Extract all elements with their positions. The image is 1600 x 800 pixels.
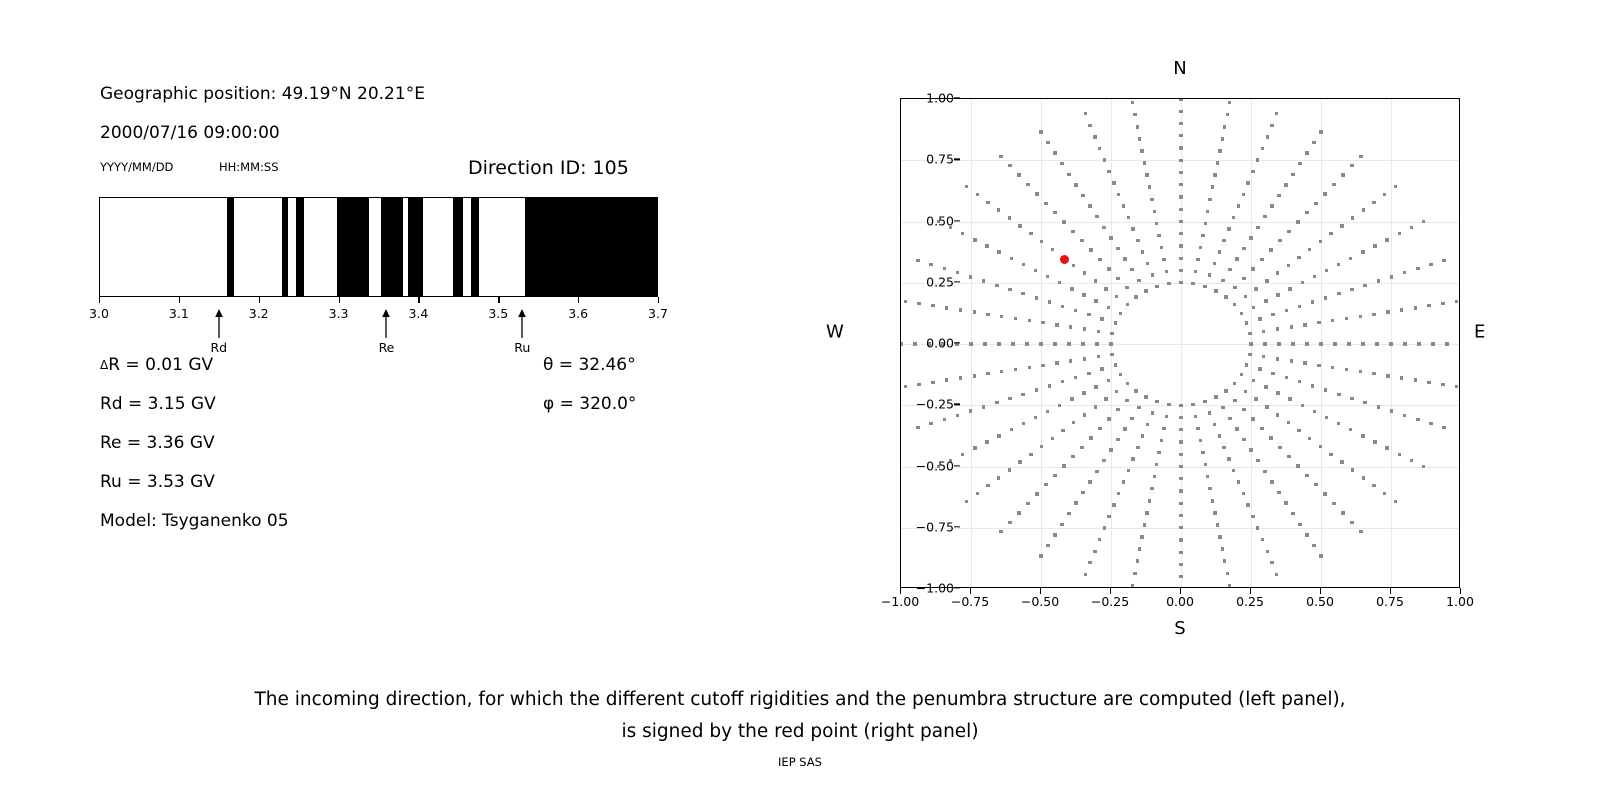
- direction-point: [1039, 130, 1042, 133]
- direction-point: [1347, 342, 1350, 345]
- direction-point: [1179, 171, 1182, 174]
- direction-point: [1208, 273, 1211, 276]
- direction-point: [1087, 372, 1090, 375]
- direction-point: [1323, 492, 1326, 495]
- direction-point: [1224, 295, 1227, 298]
- direction-point: [1053, 211, 1056, 214]
- direction-point: [1266, 550, 1269, 553]
- direction-point: [1179, 232, 1182, 235]
- direction-point: [1067, 512, 1070, 515]
- direction-point: [1141, 434, 1144, 437]
- direction-point: [1372, 372, 1375, 375]
- direction-point: [1445, 342, 1448, 345]
- direction-point: [1325, 416, 1328, 419]
- direction-point: [1278, 446, 1281, 449]
- direction-point: [1087, 313, 1090, 316]
- direction-point: [1284, 183, 1287, 186]
- direction-point: [1305, 211, 1308, 214]
- direction-point: [1363, 284, 1366, 287]
- direction-point: [1232, 469, 1235, 472]
- arrow-up-icon: [379, 309, 393, 339]
- direction-point: [1256, 158, 1259, 161]
- direction-point: [1403, 271, 1406, 274]
- direction-point: [1265, 405, 1268, 408]
- direction-point: [1414, 378, 1417, 381]
- direction-point: [1301, 281, 1304, 284]
- direction-point: [1061, 429, 1064, 432]
- direction-point: [995, 401, 998, 404]
- direction-point: [1359, 155, 1362, 158]
- direction-point: [1179, 404, 1182, 407]
- direction-point: [1081, 194, 1084, 197]
- x-axis-tick: [1320, 588, 1321, 594]
- rigidity-marker-label: Ru: [511, 340, 533, 355]
- y-axis-tick-label: 0.25: [926, 274, 954, 289]
- x-axis-tick: [1110, 588, 1111, 594]
- direction-point: [1053, 533, 1056, 536]
- direction-point: [1138, 547, 1141, 550]
- direction-point: [961, 232, 964, 235]
- direction-point: [1008, 164, 1011, 167]
- direction-point: [1055, 323, 1058, 326]
- direction-point: [1131, 101, 1134, 104]
- direction-point: [1260, 427, 1263, 430]
- direction-point: [1442, 426, 1445, 429]
- direction-point: [1160, 246, 1163, 249]
- direction-point: [1400, 308, 1403, 311]
- direction-point: [945, 378, 948, 381]
- direction-point: [1144, 289, 1147, 292]
- direction-point: [1112, 503, 1115, 506]
- direction-point: [1145, 173, 1148, 176]
- direction-point: [982, 405, 985, 408]
- direction-point: [1389, 342, 1392, 345]
- direction-point: [1088, 561, 1091, 564]
- direction-point: [1403, 414, 1406, 417]
- direction-point: [1372, 313, 1375, 316]
- direction-point: [1242, 247, 1245, 250]
- direction-point: [1390, 409, 1393, 412]
- direction-point: [1251, 515, 1254, 518]
- date-format-hint: YYYY/MM/DD: [100, 160, 173, 174]
- direction-point: [1221, 547, 1224, 550]
- param-rd: Rd = 3.15 GV: [100, 394, 216, 414]
- direction-point: [1088, 480, 1091, 483]
- direction-point: [1051, 437, 1054, 440]
- axis-tick: [179, 297, 180, 303]
- direction-point: [1221, 279, 1224, 282]
- direction-point: [1046, 544, 1049, 547]
- direction-point: [904, 300, 907, 303]
- direction-point: [1138, 137, 1141, 140]
- direction-point: [1305, 151, 1308, 154]
- direction-point: [1431, 342, 1434, 345]
- direction-point: [1235, 257, 1238, 260]
- direction-point: [1148, 185, 1151, 188]
- direction-point: [1140, 149, 1143, 152]
- direction-id-label: Direction ID: 105: [468, 157, 629, 179]
- direction-point: [1276, 271, 1279, 274]
- direction-point: [1137, 279, 1140, 282]
- direction-point: [1455, 385, 1458, 388]
- direction-point: [1179, 514, 1182, 517]
- direction-point: [1008, 216, 1011, 219]
- direction-point: [1359, 530, 1362, 533]
- direction-point: [1385, 238, 1388, 241]
- direction-point: [1305, 342, 1308, 345]
- param-theta: θ = 32.46°: [543, 355, 636, 375]
- direction-point: [1422, 220, 1425, 223]
- direction-point: [1429, 422, 1432, 425]
- direction-point: [1196, 427, 1199, 430]
- direction-point: [1070, 287, 1073, 290]
- direction-point: [1221, 137, 1224, 140]
- direction-point: [1097, 330, 1100, 333]
- compass-north-label: N: [1173, 58, 1186, 79]
- direction-point: [1088, 124, 1091, 127]
- direction-point: [1010, 428, 1013, 431]
- direction-point: [1107, 267, 1110, 270]
- direction-point: [969, 342, 972, 345]
- direction-point: [1251, 267, 1254, 270]
- direction-point: [1256, 226, 1259, 229]
- direction-point: [943, 418, 946, 421]
- direction-point: [1228, 268, 1231, 271]
- direction-point: [1167, 403, 1170, 406]
- direction-point: [1350, 288, 1353, 291]
- y-axis-tick: [954, 281, 960, 282]
- direction-point: [1107, 417, 1110, 420]
- direction-point: [1008, 521, 1011, 524]
- direction-point: [1179, 195, 1182, 198]
- direction-point: [1058, 404, 1061, 407]
- direction-point: [1377, 279, 1380, 282]
- direction-point: [1359, 315, 1362, 318]
- direction-point: [1218, 149, 1221, 152]
- direction-point: [1018, 224, 1021, 227]
- direction-point: [961, 453, 964, 456]
- direction-point: [913, 342, 916, 345]
- penumbra-band: [296, 198, 304, 296]
- direction-point: [1329, 232, 1332, 235]
- direction-point: [1098, 147, 1101, 150]
- direction-point: [1331, 366, 1334, 369]
- direction-point: [1095, 215, 1098, 218]
- direction-point: [1305, 474, 1308, 477]
- direction-point: [1098, 258, 1101, 261]
- axis-tick: [578, 297, 579, 303]
- direction-point: [1233, 382, 1236, 385]
- axis-tick: [259, 297, 260, 303]
- direction-point: [1095, 470, 1098, 473]
- direction-point: [1361, 250, 1364, 253]
- direction-point: [1133, 113, 1136, 116]
- direction-point: [1179, 183, 1182, 186]
- direction-point: [1179, 122, 1182, 125]
- direction-point: [1083, 357, 1086, 360]
- direction-point: [1179, 563, 1182, 566]
- param-model: Model: Tsyganenko 05: [100, 511, 289, 531]
- direction-point: [1290, 359, 1293, 362]
- direction-point: [1442, 259, 1445, 262]
- direction-point: [1021, 393, 1024, 396]
- direction-point: [1072, 421, 1075, 424]
- direction-point: [1044, 483, 1047, 486]
- direction-point: [1349, 428, 1352, 431]
- direction-point: [1441, 383, 1444, 386]
- direction-point: [1270, 561, 1273, 564]
- direction-point: [1061, 305, 1064, 308]
- direction-point: [1080, 446, 1083, 449]
- direction-point: [1123, 257, 1126, 260]
- direction-point: [1340, 224, 1343, 227]
- direction-point: [1263, 215, 1266, 218]
- direction-point: [1179, 110, 1182, 113]
- direction-point: [1276, 413, 1279, 416]
- param-phi: φ = 320.0°: [543, 394, 636, 414]
- direction-point: [1373, 440, 1376, 443]
- direction-point: [1094, 385, 1097, 388]
- direction-point: [1276, 391, 1279, 394]
- direction-point: [1071, 455, 1074, 458]
- direction-point: [1249, 448, 1252, 451]
- direction-point: [1199, 439, 1202, 442]
- x-axis-tick: [1180, 588, 1181, 594]
- direction-point: [1218, 250, 1221, 253]
- direction-point: [1061, 380, 1064, 383]
- direction-point: [973, 374, 976, 377]
- direction-point: [1311, 384, 1314, 387]
- direction-point: [1026, 183, 1029, 186]
- direction-point: [1394, 500, 1397, 503]
- x-axis-tick-label: −0.25: [1091, 594, 1129, 609]
- direction-point: [1053, 474, 1056, 477]
- direction-point: [1179, 575, 1182, 578]
- direction-point: [917, 302, 920, 305]
- direction-point: [1362, 476, 1365, 479]
- direction-point: [1383, 193, 1386, 196]
- x-axis-tick-label: 0.75: [1376, 594, 1404, 609]
- direction-point: [1167, 282, 1170, 285]
- direction-point: [1034, 416, 1037, 419]
- direction-point: [943, 267, 946, 270]
- direction-point: [1394, 185, 1397, 188]
- axis-tick-label: 3.3: [329, 306, 349, 321]
- direction-point: [1051, 248, 1054, 251]
- penumbra-chart: [99, 197, 658, 297]
- penumbra-band: [337, 198, 369, 296]
- direction-point: [1179, 526, 1182, 529]
- direction-point: [1093, 135, 1096, 138]
- direction-point: [1165, 415, 1168, 418]
- direction-point: [1011, 342, 1014, 345]
- direction-point: [976, 492, 979, 495]
- direction-point: [1325, 269, 1328, 272]
- direction-point: [999, 155, 1002, 158]
- direction-point: [1179, 281, 1182, 284]
- direction-point: [1291, 512, 1294, 515]
- direction-point: [1228, 584, 1231, 587]
- direction-point: [1040, 445, 1043, 448]
- direction-point: [1211, 499, 1214, 502]
- direction-point: [1017, 511, 1020, 514]
- direction-point: [1298, 162, 1301, 165]
- direction-point: [1035, 296, 1038, 299]
- direction-point: [1018, 460, 1021, 463]
- selected-direction-point[interactable]: [1060, 255, 1069, 264]
- direction-point: [1351, 468, 1354, 471]
- direction-point: [1155, 463, 1158, 466]
- direction-point: [1074, 376, 1077, 379]
- direction-point: [1313, 275, 1316, 278]
- direction-point: [1074, 183, 1077, 186]
- direction-point: [1222, 446, 1225, 449]
- direction-point: [1276, 327, 1279, 330]
- direction-point: [1216, 523, 1219, 526]
- axis-tick: [418, 297, 419, 303]
- direction-point: [1179, 269, 1182, 272]
- direction-point: [1034, 269, 1037, 272]
- direction-point: [959, 376, 962, 379]
- direction-point: [1089, 436, 1092, 439]
- direction-point: [1194, 270, 1197, 273]
- direction-point: [986, 201, 989, 204]
- direction-point: [1053, 342, 1056, 345]
- direction-point: [1074, 501, 1077, 504]
- direction-point: [1126, 382, 1129, 385]
- figure-caption: The incoming direction, for which the di…: [0, 684, 1600, 748]
- direction-point: [956, 271, 959, 274]
- direction-point: [1331, 319, 1334, 322]
- direction-point: [1441, 302, 1444, 305]
- direction-point: [1104, 397, 1107, 400]
- direction-point: [1264, 385, 1267, 388]
- direction-point: [1112, 181, 1115, 184]
- direction-point: [1029, 232, 1032, 235]
- direction-point: [1097, 355, 1100, 358]
- direction-point: [1179, 477, 1182, 480]
- direction-point: [973, 446, 976, 449]
- direction-map-plot: [900, 98, 1460, 588]
- direction-point: [985, 440, 988, 443]
- direction-point: [1179, 428, 1182, 431]
- footer-credit: IEP SAS: [0, 755, 1600, 769]
- direction-point: [1386, 310, 1389, 313]
- direction-point: [1107, 170, 1110, 173]
- rigidity-marker-rd: Rd: [208, 309, 230, 355]
- direction-point: [1213, 423, 1216, 426]
- direction-point: [1150, 487, 1153, 490]
- datetime-label: 2000/07/16 09:00:00: [100, 123, 280, 143]
- direction-point: [1362, 208, 1365, 211]
- penumbra-band: [282, 198, 288, 296]
- direction-point: [1136, 125, 1139, 128]
- param-delta-r: ΔR = 0.01 GV: [100, 355, 213, 375]
- direction-point: [1252, 306, 1255, 309]
- direction-point: [1204, 222, 1207, 225]
- direction-point: [1213, 262, 1216, 265]
- direction-point: [1263, 470, 1266, 473]
- caption-line-1: The incoming direction, for which the di…: [0, 684, 1600, 716]
- y-axis-tick-label: 0.00: [926, 336, 954, 351]
- direction-point: [1094, 279, 1097, 282]
- direction-point: [1116, 438, 1119, 441]
- direction-point: [931, 304, 934, 307]
- direction-point: [1109, 342, 1112, 345]
- direction-point: [986, 484, 989, 487]
- direction-point: [1242, 438, 1245, 441]
- direction-point: [1208, 487, 1211, 490]
- direction-point: [1127, 469, 1130, 472]
- direction-point: [1144, 395, 1147, 398]
- direction-point: [1130, 268, 1133, 271]
- direction-point: [1296, 464, 1299, 467]
- direction-point: [1041, 364, 1044, 367]
- direction-point: [1297, 429, 1300, 432]
- direction-point: [1058, 281, 1061, 284]
- direction-point: [1053, 151, 1056, 154]
- direction-point: [1125, 399, 1128, 402]
- axis-tick: [658, 297, 659, 303]
- direction-point: [969, 275, 972, 278]
- direction-point: [1350, 164, 1353, 167]
- direction-point: [1298, 523, 1301, 526]
- direction-point: [1427, 381, 1430, 384]
- x-axis-tick-label: 0.00: [1166, 594, 1194, 609]
- direction-point: [1285, 376, 1288, 379]
- direction-point: [1062, 220, 1065, 223]
- direction-point: [1261, 147, 1264, 150]
- direction-point: [1245, 321, 1248, 324]
- direction-point: [1233, 286, 1236, 289]
- direction-point: [1270, 480, 1273, 483]
- direction-point: [983, 342, 986, 345]
- y-axis-tick-label: −0.50: [916, 458, 954, 473]
- direction-point: [1201, 234, 1204, 237]
- direction-point: [1290, 325, 1293, 328]
- penumbra-band: [471, 198, 478, 296]
- direction-point: [1242, 492, 1245, 495]
- axis-tick: [498, 297, 499, 303]
- direction-point: [1270, 204, 1273, 207]
- penumbra-band: [381, 198, 403, 296]
- direction-point: [1308, 437, 1311, 440]
- direction-point: [929, 422, 932, 425]
- direction-point: [1136, 446, 1139, 449]
- penumbra-band: [453, 198, 463, 296]
- y-axis-tick: [954, 220, 960, 221]
- direction-point: [1125, 286, 1128, 289]
- direction-point: [1319, 342, 1322, 345]
- direction-point: [1082, 293, 1085, 296]
- direction-point: [1044, 202, 1047, 205]
- direction-point: [1035, 492, 1038, 495]
- direction-point: [1148, 499, 1151, 502]
- direction-point: [1103, 158, 1106, 161]
- direction-point: [1350, 397, 1353, 400]
- x-axis-tick: [1250, 588, 1251, 594]
- direction-point: [1459, 342, 1460, 345]
- direction-point: [1179, 146, 1182, 149]
- direction-point: [1084, 573, 1087, 576]
- direction-point: [1103, 526, 1106, 529]
- arrow-up-icon: [212, 309, 226, 339]
- direction-point: [1114, 363, 1117, 366]
- direction-point: [1094, 299, 1097, 302]
- direction-point: [1083, 271, 1086, 274]
- direction-point: [1417, 342, 1420, 345]
- direction-point: [1008, 288, 1011, 291]
